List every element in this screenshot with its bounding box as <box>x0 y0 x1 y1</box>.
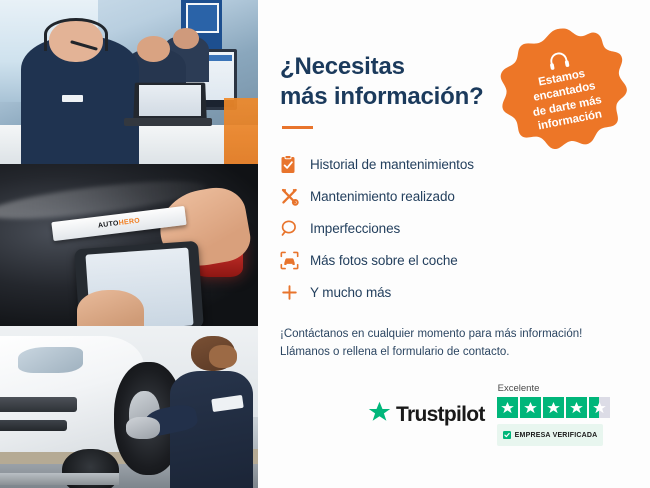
feature-item-imperfecciones: Imperfecciones <box>280 213 626 245</box>
ruler-brand-part1: AUTO <box>97 220 119 229</box>
feature-label: Y mucho más <box>310 285 391 300</box>
feature-item-mucho-mas: Y mucho más <box>280 277 626 309</box>
star-filled <box>566 397 587 418</box>
orange-signage <box>224 98 258 164</box>
check-badge-icon <box>503 426 511 444</box>
tools-icon <box>280 187 310 206</box>
trustpilot-logo[interactable]: Trustpilot <box>368 401 485 428</box>
info-promo-card: AUTOHERO ¿Neces <box>0 0 650 488</box>
agent-head-3 <box>173 28 199 49</box>
name-badge <box>62 95 83 102</box>
trustpilot-score-block: Excelente <box>497 383 610 446</box>
verified-business-badge: EMPRESA VERIFICADA <box>497 424 604 446</box>
lower-grille <box>0 420 67 431</box>
title-divider <box>282 126 313 129</box>
car-scan-icon <box>280 251 310 270</box>
laptop-base <box>124 118 212 126</box>
feature-label: Más fotos sobre el coche <box>310 253 458 268</box>
inspector-hand-2 <box>77 290 144 326</box>
work-glove <box>126 417 160 440</box>
contact-copy-line1: ¡Contáctanos en cualquier momento para m… <box>280 325 626 344</box>
feature-list: Historial de mantenimientos Mantenimient… <box>280 149 626 309</box>
badge-starburst-shape <box>500 26 628 154</box>
headlight <box>18 347 83 373</box>
ruler-brand-part2: HERO <box>118 218 140 228</box>
contact-copy-line2: Llámanos o rellena el formulario de cont… <box>280 343 626 362</box>
call-center-agents-photo <box>0 0 258 164</box>
star-filled <box>497 397 518 418</box>
status-badge: Estamos encantados de darte más informac… <box>500 26 628 154</box>
rating-label: Excelente <box>498 383 540 394</box>
star-filled <box>543 397 564 418</box>
photo-column: AUTOHERO <box>0 0 258 488</box>
feature-label: Historial de mantenimientos <box>310 157 474 172</box>
ruler-brand-text: AUTOHERO <box>97 218 140 230</box>
feature-item-fotos: Más fotos sobre el coche <box>280 245 626 277</box>
star-half <box>589 397 610 418</box>
plus-icon <box>280 283 310 302</box>
laptop-display <box>139 85 201 116</box>
magnifier-icon <box>280 219 310 238</box>
star-rating <box>497 397 610 418</box>
technician-face <box>209 345 237 368</box>
clipboard-check-icon <box>280 155 310 174</box>
front-grille <box>0 397 77 412</box>
trustpilot-rating[interactable]: Trustpilot Excelente <box>368 383 610 446</box>
trustpilot-wordmark: Trustpilot <box>396 403 485 427</box>
page-title-line1: ¿Necesitas <box>280 53 405 80</box>
feature-label: Mantenimiento realizado <box>310 189 455 204</box>
wheel-inspection-photo <box>0 326 258 488</box>
page-title-line2: más información? <box>280 83 484 110</box>
car-lift-ramp <box>0 473 119 484</box>
verified-label: EMPRESA VERIFICADA <box>515 432 598 439</box>
star-filled <box>520 397 541 418</box>
content-panel: ¿Necesitas más información? Historial de… <box>258 0 650 488</box>
headset-band <box>44 18 109 51</box>
page-title: ¿Necesitas más información? <box>280 52 495 112</box>
feature-label: Imperfecciones <box>310 221 400 236</box>
car-inspection-ruler-photo: AUTOHERO <box>0 164 258 326</box>
contact-copy: ¡Contáctanos en cualquier momento para m… <box>280 325 626 362</box>
trustpilot-star-icon <box>368 401 391 428</box>
feature-item-mantenimiento: Mantenimiento realizado <box>280 181 626 213</box>
